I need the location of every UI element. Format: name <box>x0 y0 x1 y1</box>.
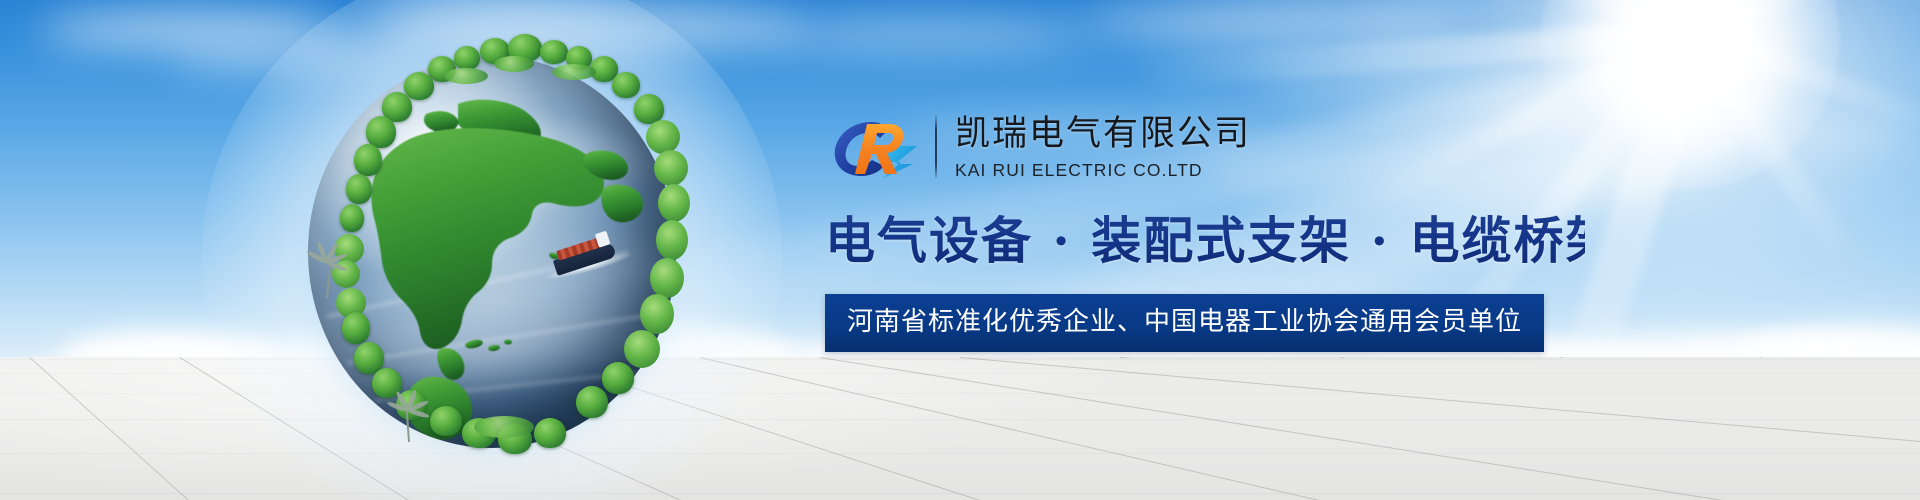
green-earth-globe <box>272 36 712 476</box>
banner-content: 凯瑞电气有限公司 KAI RUI ELECTRIC CO.LTD 电气设备 · … <box>825 108 1585 352</box>
banner-headline: 电气设备 · 装配式支架 · 电缆桥架 <box>825 210 1585 272</box>
logo-text-divider <box>935 116 937 178</box>
hero-banner: 凯瑞电气有限公司 KAI RUI ELECTRIC CO.LTD 电气设备 · … <box>0 0 1920 500</box>
brand-row: 凯瑞电气有限公司 KAI RUI ELECTRIC CO.LTD <box>825 108 1585 186</box>
kairui-cr-logo-icon <box>825 116 921 178</box>
brand-text: 凯瑞电气有限公司 KAI RUI ELECTRIC CO.LTD <box>955 113 1251 181</box>
certification-badge: 河南省标准化优秀企业、中国电器工业协会通用会员单位 <box>825 294 1544 352</box>
globe-sphere <box>308 56 676 448</box>
company-name-cn: 凯瑞电气有限公司 <box>955 113 1251 155</box>
company-name-en: KAI RUI ELECTRIC CO.LTD <box>955 159 1251 181</box>
